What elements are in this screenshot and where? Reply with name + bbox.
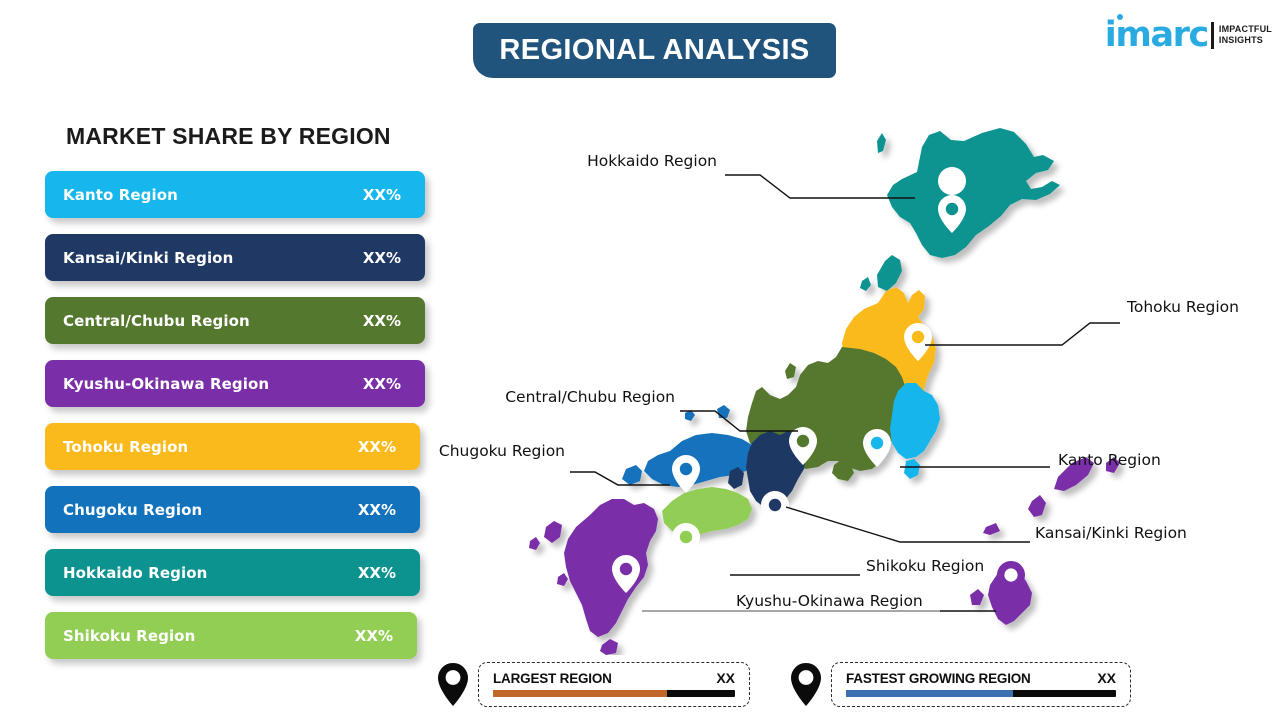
legend-row[interactable]: Tohoku RegionXX%	[45, 423, 420, 470]
legend-row-label: Kansai/Kinki Region	[63, 249, 363, 267]
legend-row[interactable]: Kyushu-Okinawa RegionXX%	[45, 360, 425, 407]
map-label-hokkaido: Hokkaido Region	[587, 152, 717, 170]
legend-row-label: Tohoku Region	[63, 438, 358, 456]
market-share-heading: MARKET SHARE BY REGION	[66, 123, 391, 150]
legend-row-label: Chugoku Region	[63, 501, 358, 519]
map-label-kanto: Kanto Region	[1058, 451, 1161, 469]
fastest-growing-region-stat[interactable]: FASTEST GROWING REGION XX	[790, 662, 1131, 707]
logo-tagline-line2: INSIGHTS	[1219, 35, 1272, 46]
fastest-growing-region-box: FASTEST GROWING REGION XX	[831, 662, 1131, 707]
map-pin-kansai	[761, 491, 789, 529]
largest-region-value: XX	[716, 670, 735, 686]
legend-row-value: XX%	[358, 564, 396, 582]
map-label-kansai: Kansai/Kinki Region	[1035, 524, 1187, 542]
legend-row-label: Kanto Region	[63, 186, 363, 204]
legend-row[interactable]: Kanto RegionXX%	[45, 171, 425, 218]
logo-tagline: IMPACTFUL INSIGHTS	[1219, 24, 1272, 45]
fastest-growing-region-progress	[846, 690, 1116, 697]
page-title: REGIONAL ANALYSIS	[499, 34, 809, 67]
page-title-banner: REGIONAL ANALYSIS	[473, 23, 836, 78]
regional-analysis-slide: REGIONAL ANALYSIS imarc IMPACTFUL INSIGH…	[0, 0, 1280, 720]
largest-region-box: LARGEST REGION XX	[478, 662, 750, 707]
fastest-growing-region-progress-fill	[846, 690, 1013, 697]
japan-regional-map: Hokkaido Region Tohoku Region Central/Ch…	[430, 95, 1190, 655]
map-region-kyushu[interactable]	[529, 499, 658, 655]
legend-row-label: Central/Chubu Region	[63, 312, 363, 330]
map-pin-chugoku	[672, 455, 700, 493]
fastest-growing-region-title: FASTEST GROWING REGION	[846, 671, 1031, 686]
map-label-chugoku: Chugoku Region	[439, 442, 565, 460]
legend-row-label: Shikoku Region	[63, 627, 355, 645]
legend-row[interactable]: Hokkaido RegionXX%	[45, 549, 420, 596]
legend-row-value: XX%	[358, 501, 396, 519]
imarc-logo: imarc IMPACTFUL INSIGHTS	[1105, 14, 1272, 56]
map-label-chubu: Central/Chubu Region	[505, 388, 675, 406]
location-pin-icon	[437, 662, 469, 707]
largest-region-title: LARGEST REGION	[493, 671, 612, 686]
logo-dot-icon	[1117, 14, 1123, 20]
market-share-legend-list: Kanto RegionXX%Kansai/Kinki RegionXX%Cen…	[45, 171, 445, 675]
legend-row-label: Hokkaido Region	[63, 564, 358, 582]
legend-row-value: XX%	[363, 312, 401, 330]
legend-row-value: XX%	[363, 375, 401, 393]
japan-map-svg	[430, 95, 1190, 655]
logo-wordmark: imarc	[1105, 18, 1208, 53]
legend-row[interactable]: Central/Chubu RegionXX%	[45, 297, 425, 344]
legend-row-value: XX%	[355, 627, 393, 645]
map-label-tohoku: Tohoku Region	[1127, 298, 1239, 316]
largest-region-progress-fill	[493, 690, 667, 697]
legend-row-value: XX%	[358, 438, 396, 456]
legend-row[interactable]: Chugoku RegionXX%	[45, 486, 420, 533]
legend-row-value: XX%	[363, 186, 401, 204]
largest-region-progress	[493, 690, 735, 697]
logo-divider	[1211, 22, 1214, 49]
map-region-kanto[interactable]	[890, 383, 940, 479]
legend-row[interactable]: Shikoku RegionXX%	[45, 612, 417, 659]
legend-row-label: Kyushu-Okinawa Region	[63, 375, 363, 393]
fastest-growing-region-value: XX	[1097, 670, 1116, 686]
legend-row[interactable]: Kansai/Kinki RegionXX%	[45, 234, 425, 281]
logo-tagline-line1: IMPACTFUL	[1219, 24, 1272, 35]
map-label-kyushu: Kyushu-Okinawa Region	[736, 592, 923, 610]
legend-row-value: XX%	[363, 249, 401, 267]
map-pin-shikoku	[672, 523, 700, 561]
largest-region-stat[interactable]: LARGEST REGION XX	[437, 662, 750, 707]
map-label-shikoku: Shikoku Region	[866, 557, 984, 575]
location-pin-icon	[790, 662, 822, 707]
